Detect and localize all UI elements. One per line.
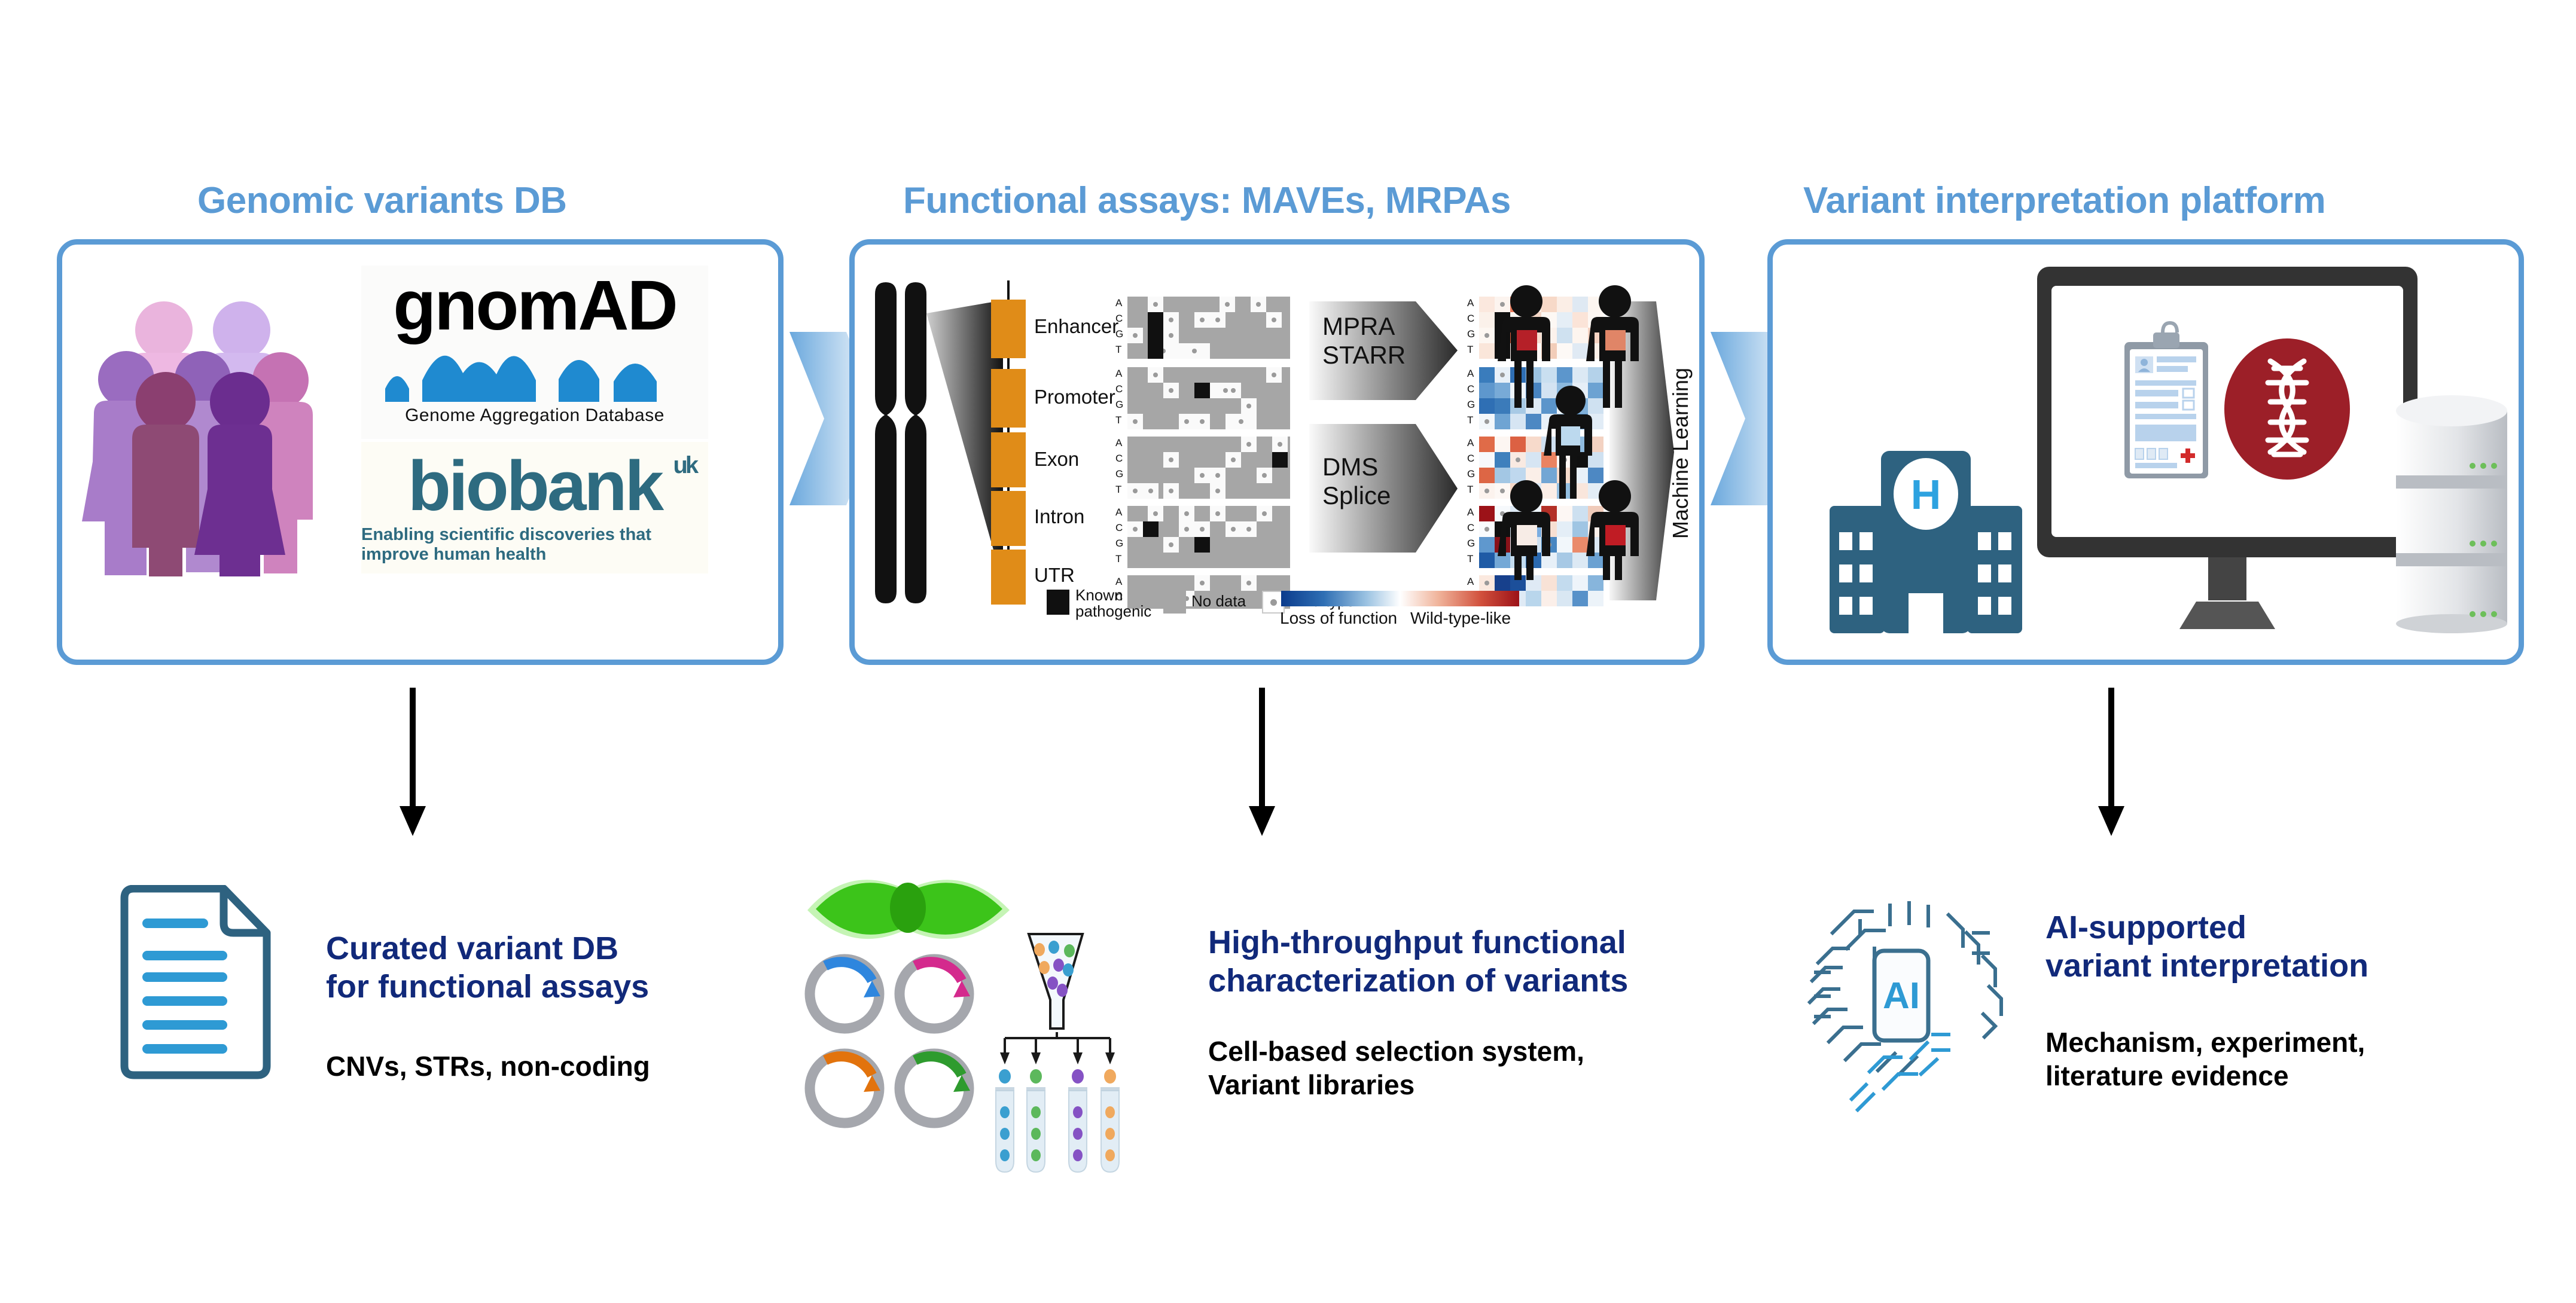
svg-text:G: G: [1115, 538, 1123, 549]
track-block-enhancer: [991, 300, 1026, 358]
panel-title-genomic-variants-db: Genomic variants DB: [197, 179, 567, 222]
gnomad-logo: gnomAD Genome Aggregation Database: [361, 266, 708, 439]
dna-circle-icon: [2224, 338, 2350, 480]
panel-title-functional-assays: Functional assays: MAVEs, MRPAs: [903, 179, 1511, 222]
selection-funnel-tubes-icon: [993, 933, 1166, 1184]
track-block-exon: [991, 432, 1026, 487]
svg-text:C: C: [1115, 383, 1123, 395]
down-arrow-3-icon: [2093, 688, 2129, 837]
panel-genomic-variants-db: gnomAD Genome Aggregation Database bioba…: [57, 239, 784, 665]
people-group-icon: [77, 289, 328, 576]
svg-text:C: C: [1467, 453, 1474, 464]
output-headline-ai-supported: AI-supported variant interpretation: [2045, 909, 2368, 985]
svg-text:G: G: [1115, 328, 1123, 340]
patient-figures-group: [1489, 281, 1687, 580]
svg-text:C: C: [1467, 383, 1474, 395]
assay-label-mpra-starr: MPRASTARR: [1322, 312, 1406, 370]
track-label-exon: Exon: [1034, 448, 1079, 471]
track-label-promoter: Promoter: [1034, 386, 1115, 408]
panel-title-variant-interpretation-platform: Variant interpretation platform: [1803, 179, 2325, 222]
svg-text:T: T: [1467, 414, 1473, 426]
track-label-intron: Intron: [1034, 505, 1084, 528]
svg-text:T: T: [1467, 344, 1473, 355]
svg-text:C: C: [1115, 522, 1123, 533]
svg-text:G: G: [1115, 468, 1123, 480]
cell-icon: [801, 861, 1017, 945]
legend-label-no-data: No data: [1191, 593, 1246, 609]
svg-text:A: A: [1115, 368, 1123, 379]
down-arrow-1-icon: [395, 688, 431, 837]
svg-text:A: A: [1115, 297, 1123, 309]
clipboard-record-icon: [2124, 323, 2208, 478]
grey-variant-matrix: ACGT ACGT ACGT ACGT AC: [1112, 295, 1303, 609]
svg-text:A: A: [1467, 297, 1474, 309]
svg-text:T: T: [1467, 553, 1473, 564]
svg-text:A: A: [1115, 437, 1123, 448]
output-subtext-curated-variant-db: CNVs, STRs, non-coding: [326, 1049, 650, 1083]
svg-text:A: A: [1467, 576, 1474, 587]
biobank-tagline: Enabling scientific discoveries that imp…: [361, 525, 708, 564]
biobank-uk-superscript: uk: [673, 453, 696, 477]
gnomad-histogram-icon: [379, 337, 690, 403]
svg-text:G: G: [1115, 399, 1123, 410]
assay-label-dms-splice: DMSSplice: [1322, 453, 1391, 511]
figure-canvas: Genomic variants DB Functional assays: M…: [0, 0, 2576, 1303]
legend-swatch-no-data: [1163, 591, 1186, 614]
output-subtext-ai-supported: Mechanism, experiment, literature eviden…: [2045, 1026, 2365, 1093]
svg-text:T: T: [1115, 414, 1121, 426]
svg-text:A: A: [1115, 506, 1123, 518]
output-headline-high-throughput: High-throughput functional characterizat…: [1208, 924, 1628, 1000]
track-label-enhancer: Enhancer: [1034, 315, 1118, 338]
legend-swatch-known-pathogenic: [1047, 590, 1069, 615]
svg-text:C: C: [1467, 313, 1474, 324]
monitor-icon: [2036, 266, 2419, 636]
legend-label-known-pathogenic: Known pathogenic: [1075, 587, 1151, 620]
track-block-promoter: [991, 369, 1026, 428]
output-headline-curated-variant-db: Curated variant DB for functional assays: [326, 930, 649, 1006]
svg-text:G: G: [1467, 468, 1475, 480]
track-block-intron: [991, 491, 1026, 546]
ai-brain-icon: AI: [1794, 891, 2034, 1112]
colorbar-label-low: Loss of function: [1280, 609, 1397, 628]
down-arrow-2-icon: [1244, 688, 1280, 837]
svg-text:G: G: [1467, 328, 1475, 340]
database-cylinder-icon: [2383, 394, 2520, 633]
ai-chip-label: AI: [1883, 975, 1920, 1017]
legend-wildtype-dot-icon: [1270, 599, 1277, 606]
svg-text:C: C: [1467, 522, 1474, 533]
svg-text:A: A: [1467, 506, 1474, 518]
gnomad-wordmark: gnomAD: [393, 270, 676, 341]
svg-text:T: T: [1115, 553, 1121, 564]
plasmid-library-icon: [801, 951, 987, 1142]
panel-variant-interpretation-platform: H: [1767, 239, 2524, 665]
svg-text:G: G: [1467, 538, 1475, 549]
biobank-logo: biobank uk Enabling scientific discoveri…: [361, 442, 708, 573]
gnomad-subtitle: Genome Aggregation Database: [405, 405, 664, 426]
biobank-wordmark: biobank uk: [408, 451, 661, 521]
svg-text:C: C: [1115, 453, 1123, 464]
svg-text:T: T: [1115, 484, 1121, 495]
track-label-utr: UTR: [1034, 564, 1075, 587]
colorbar-label-high: Wild-type-like: [1410, 609, 1511, 628]
svg-text:T: T: [1467, 484, 1473, 495]
track-block-utr: [991, 550, 1026, 605]
svg-text:A: A: [1467, 368, 1474, 379]
hospital-icon: H: [1830, 451, 2027, 633]
document-icon: [114, 885, 275, 1082]
output-subtext-high-throughput: Cell-based selection system, Variant lib…: [1208, 1035, 1584, 1101]
svg-text:T: T: [1115, 344, 1121, 355]
svg-text:G: G: [1467, 399, 1475, 410]
hospital-letter-h: H: [1911, 471, 1941, 518]
colorbar-loss-of-function: [1281, 591, 1519, 606]
svg-text:C: C: [1115, 313, 1123, 324]
svg-text:A: A: [1467, 437, 1474, 448]
